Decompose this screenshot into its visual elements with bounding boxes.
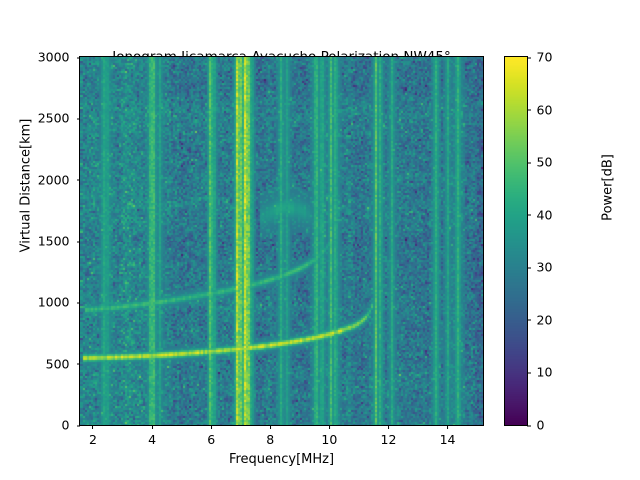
y-tick-1000: 1000 (38, 295, 80, 310)
y-tick-label: 2500 (38, 111, 70, 126)
colorbar-tick-60: 60 (527, 102, 552, 117)
colorbar-tick-label: 30 (537, 260, 553, 275)
y-tick-label: 3000 (38, 50, 70, 65)
x-tick-label: 8 (266, 432, 274, 447)
x-tick-mark (388, 425, 389, 429)
y-tick-mark (77, 118, 81, 119)
x-tick-6: 6 (207, 425, 215, 447)
x-tick-mark (211, 425, 212, 429)
colorbar-tick-mark (527, 162, 531, 163)
colorbar-tick-20: 20 (527, 312, 552, 327)
y-tick-mark (77, 364, 81, 365)
y-tick-mark (77, 302, 81, 303)
colorbar-tick-label: 20 (537, 312, 553, 327)
x-tick-mark (152, 425, 153, 429)
colorbar-tick-40: 40 (527, 207, 552, 222)
x-tick-2: 2 (89, 425, 97, 447)
colorbar-gradient (505, 57, 527, 425)
colorbar-tick-70: 70 (527, 50, 552, 65)
x-tick-label: 2 (89, 432, 97, 447)
y-tick-label: 500 (46, 356, 70, 371)
y-tick-2000: 2000 (38, 172, 80, 187)
y-tick-label: 1000 (38, 295, 70, 310)
y-tick-mark (77, 57, 81, 58)
x-tick-label: 10 (321, 432, 337, 447)
y-tick-label: 0 (62, 418, 70, 433)
x-tick-mark (329, 425, 330, 429)
colorbar-tick-label: 10 (537, 365, 553, 380)
ionogram-heatmap (80, 57, 483, 425)
x-tick-mark (270, 425, 271, 429)
colorbar-tick-30: 30 (527, 260, 552, 275)
x-tick-12: 12 (381, 425, 397, 447)
colorbar-tick-label: 50 (537, 155, 553, 170)
ionogram-axes: 050010001500200025003000 2468101214 (79, 56, 484, 426)
x-tick-label: 4 (148, 432, 156, 447)
y-tick-mark (77, 180, 81, 181)
x-tick-mark (92, 425, 93, 429)
y-tick-mark (77, 241, 81, 242)
x-tick-mark (447, 425, 448, 429)
ionogram-figure: Ionogram Jicamarca-Ayacucho Polarization… (0, 0, 640, 480)
y-tick-1500: 1500 (38, 234, 80, 249)
colorbar-tick-mark (527, 267, 531, 268)
x-tick-label: 14 (440, 432, 456, 447)
x-tick-label: 12 (381, 432, 397, 447)
y-tick-3000: 3000 (38, 50, 80, 65)
colorbar-tick-label: 70 (537, 50, 553, 65)
colorbar: 010203040506070 (504, 56, 528, 426)
colorbar-label: Power[dB] (601, 88, 616, 288)
colorbar-tick-label: 0 (537, 418, 545, 433)
y-axis-label: Virtual Distance[km] (19, 86, 34, 286)
colorbar-tick-0: 0 (527, 418, 544, 433)
colorbar-tick-50: 50 (527, 155, 552, 170)
colorbar-tick-mark (527, 320, 531, 321)
colorbar-tick-label: 40 (537, 207, 553, 222)
x-tick-8: 8 (266, 425, 274, 447)
y-tick-label: 1500 (38, 234, 70, 249)
colorbar-tick-mark (527, 425, 531, 426)
colorbar-tick-mark (527, 57, 531, 58)
y-tick-500: 500 (46, 356, 80, 371)
y-tick-0: 0 (62, 418, 80, 433)
colorbar-tick-mark (527, 110, 531, 111)
colorbar-tick-10: 10 (527, 365, 552, 380)
x-tick-14: 14 (440, 425, 456, 447)
colorbar-tick-label: 60 (537, 102, 553, 117)
colorbar-tick-mark (527, 215, 531, 216)
x-tick-4: 4 (148, 425, 156, 447)
y-tick-mark (77, 425, 81, 426)
x-tick-label: 6 (207, 432, 215, 447)
y-tick-2500: 2500 (38, 111, 80, 126)
x-axis-label: Frequency[MHz] (80, 452, 483, 467)
x-tick-10: 10 (321, 425, 337, 447)
y-tick-label: 2000 (38, 172, 70, 187)
colorbar-tick-mark (527, 372, 531, 373)
